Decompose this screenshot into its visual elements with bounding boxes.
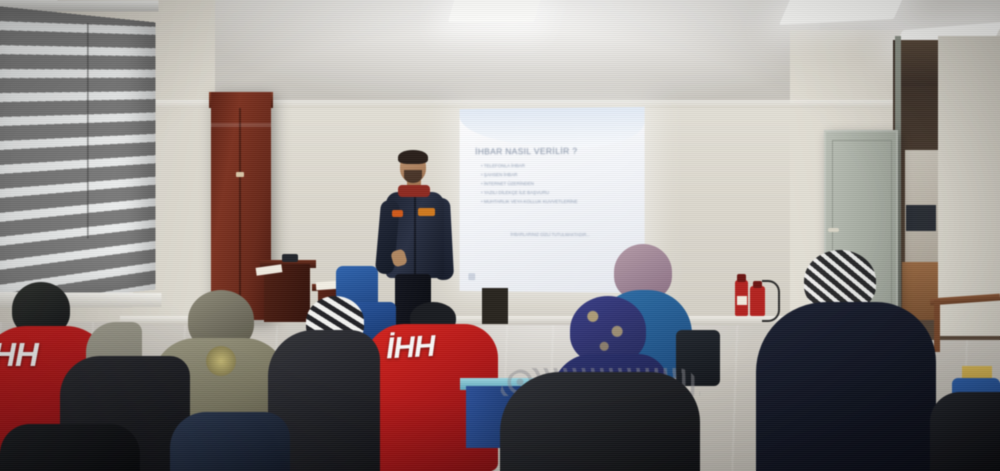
presenter-badge-left xyxy=(392,210,403,217)
attendee-fur-trim-coat xyxy=(500,372,700,471)
podium-object xyxy=(282,254,298,262)
presenter-collar xyxy=(398,185,430,197)
attendee-black-coat-right xyxy=(930,392,1000,471)
navy-overcoat xyxy=(756,302,936,471)
zebra-blind xyxy=(0,6,156,306)
presenter-hair xyxy=(398,150,428,164)
presenter-jacket-zip xyxy=(414,196,416,276)
attendee-front-blue xyxy=(170,412,290,471)
slide-bullet: İNTERNET ÜZERİNDEN xyxy=(481,180,638,189)
blue-coat xyxy=(170,412,290,471)
slide-bullet: MUHTARLIK VEYA KOLLUK KUVVETLERİNE xyxy=(481,198,638,207)
slide-bullet: YAZILI DİLEKÇE İLE BAŞVURU xyxy=(481,189,638,198)
ihh-logo-text-mid: İHH xyxy=(385,328,477,367)
wardrobe-lip xyxy=(211,123,271,127)
presenter-badge-right xyxy=(418,208,435,216)
right-wall-return xyxy=(938,36,1000,336)
slide-header-band xyxy=(460,107,645,149)
blind-cord xyxy=(87,23,89,239)
presenter-beard xyxy=(404,170,422,183)
photo-scene: İHBAR NASIL VERİLİR ? TELEFONLA İHBAR ŞA… xyxy=(0,0,1000,471)
ceiling-light-left xyxy=(448,0,542,22)
extinguisher-valve-a xyxy=(737,274,746,282)
fur-trim-coat xyxy=(500,372,700,471)
door-transom xyxy=(898,40,942,86)
extinguisher-label xyxy=(737,296,747,305)
ihh-logo-text-left: İHH xyxy=(0,336,64,374)
slide-title: İHBAR NASIL VERİLİR ? xyxy=(475,145,634,156)
wardrobe-knob xyxy=(236,172,244,177)
attendee-navy-coat-right xyxy=(756,250,936,471)
slide-bullet: ŞAHSEN İHBAR xyxy=(481,171,638,180)
olive-coat-emblem xyxy=(206,346,236,376)
slide-logo-mark xyxy=(468,273,475,280)
slide-subnote: İHBARLARINIZ GİZLİ TUTULMAKTADIR... xyxy=(510,232,640,238)
dark-coat xyxy=(0,424,140,471)
black-coat xyxy=(930,392,1000,471)
door-handle xyxy=(828,228,839,232)
hallway-desk xyxy=(906,205,936,231)
slide-bullet-list: TELEFONLA İHBAR ŞAHSEN İHBAR İNTERNET ÜZ… xyxy=(481,162,638,207)
attendee-bottom-left xyxy=(0,424,140,471)
